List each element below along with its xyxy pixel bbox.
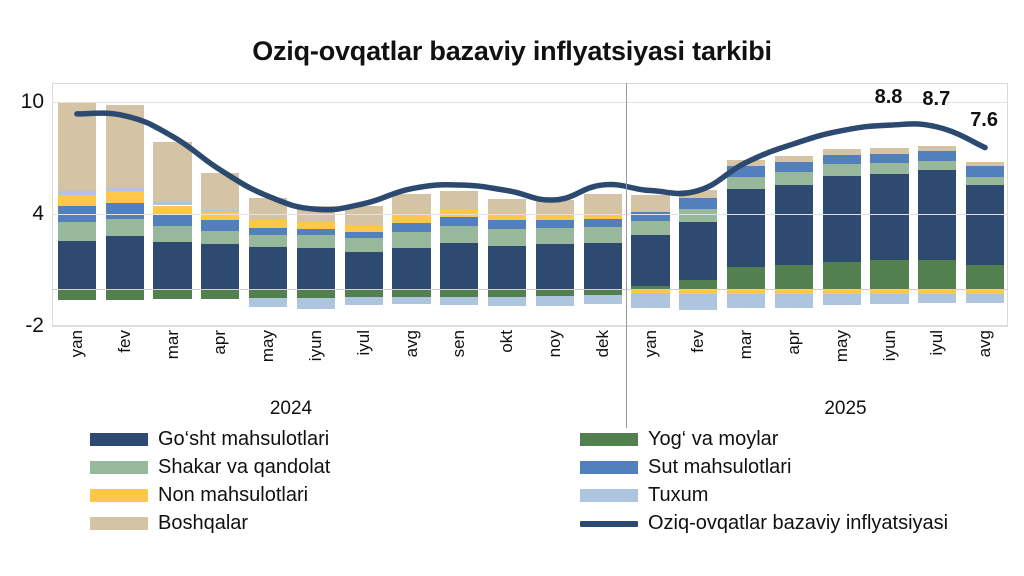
gridline bbox=[52, 102, 1008, 103]
y-tick-label: 10 bbox=[0, 90, 44, 114]
legend-item[interactable]: Yog‘ va moylar bbox=[580, 428, 778, 451]
year-label: 2024 bbox=[270, 398, 312, 420]
x-tick-label: noy bbox=[545, 330, 565, 357]
y-tick-label: -2 bbox=[0, 314, 44, 338]
zero-line bbox=[52, 289, 1008, 290]
inflation-line-path bbox=[77, 113, 985, 210]
x-tick-label: mar bbox=[736, 330, 756, 359]
legend-color-swatch bbox=[580, 461, 638, 474]
x-tick-label: avg bbox=[975, 330, 995, 357]
x-tick-label: apr bbox=[210, 330, 230, 355]
legend-label: Sut mahsulotlari bbox=[648, 456, 791, 479]
x-tick-label: fev bbox=[688, 330, 708, 353]
legend-color-swatch bbox=[90, 433, 148, 446]
legend-item[interactable]: Shakar va qandolat bbox=[90, 456, 330, 479]
line-value-label: 8.8 bbox=[875, 86, 903, 109]
legend-item[interactable]: Non mahsulotlari bbox=[90, 484, 308, 507]
legend-item[interactable]: Go‘sht mahsulotlari bbox=[90, 428, 329, 451]
x-tick-label: iyul bbox=[927, 330, 947, 356]
x-tick-label: okt bbox=[497, 330, 517, 353]
gridline bbox=[52, 326, 1008, 327]
legend-label: Shakar va qandolat bbox=[158, 456, 330, 479]
y-tick-label: 4 bbox=[0, 202, 44, 226]
year-axis-labels: 20242025 bbox=[52, 398, 1008, 426]
legend-label: Yog‘ va moylar bbox=[648, 428, 778, 451]
x-tick-label: may bbox=[258, 330, 278, 362]
legend-label: Oziq-ovqatlar bazaviy inflyatsiyasi bbox=[648, 512, 948, 535]
x-tick-label: iyun bbox=[306, 330, 326, 361]
legend-color-swatch bbox=[580, 489, 638, 502]
x-axis-labels: yanfevmaraprmayiyuniyulavgsenoktnoydekya… bbox=[52, 330, 1008, 396]
x-tick-label: sen bbox=[449, 330, 469, 357]
x-tick-label: fev bbox=[115, 330, 135, 353]
x-tick-label: dek bbox=[593, 330, 613, 357]
x-tick-label: may bbox=[832, 330, 852, 362]
legend-label: Go‘sht mahsulotlari bbox=[158, 428, 329, 451]
x-tick-label: iyun bbox=[880, 330, 900, 361]
chart-title: Oziq-ovqatlar bazaviy inflyatsiyasi tark… bbox=[0, 36, 1024, 67]
inflation-line bbox=[53, 84, 1009, 327]
chart-root: Oziq-ovqatlar bazaviy inflyatsiyasi tark… bbox=[0, 0, 1024, 576]
legend-color-swatch bbox=[90, 517, 148, 530]
year-label: 2025 bbox=[824, 398, 866, 420]
legend-color-swatch bbox=[90, 461, 148, 474]
line-value-label: 7.6 bbox=[970, 109, 998, 132]
legend-label: Tuxum bbox=[648, 484, 708, 507]
legend-color-swatch bbox=[580, 433, 638, 446]
legend-item[interactable]: Boshqalar bbox=[90, 512, 248, 535]
x-tick-label: apr bbox=[784, 330, 804, 355]
legend-label: Boshqalar bbox=[158, 512, 248, 535]
legend-label: Non mahsulotlari bbox=[158, 484, 308, 507]
legend-item[interactable]: Sut mahsulotlari bbox=[580, 456, 791, 479]
legend-item[interactable]: Tuxum bbox=[580, 484, 708, 507]
legend-color-swatch bbox=[90, 489, 148, 502]
legend-line-swatch bbox=[580, 521, 638, 527]
line-value-label: 8.7 bbox=[922, 88, 950, 111]
x-tick-label: iyul bbox=[354, 330, 374, 356]
x-tick-label: yan bbox=[641, 330, 661, 357]
gridline bbox=[52, 214, 1008, 215]
chart-legend: Go‘sht mahsulotlariShakar va qandolatNon… bbox=[52, 428, 1008, 538]
x-tick-label: yan bbox=[67, 330, 87, 357]
x-tick-label: avg bbox=[402, 330, 422, 357]
x-tick-label: mar bbox=[163, 330, 183, 359]
legend-item[interactable]: Oziq-ovqatlar bazaviy inflyatsiyasi bbox=[580, 512, 948, 535]
